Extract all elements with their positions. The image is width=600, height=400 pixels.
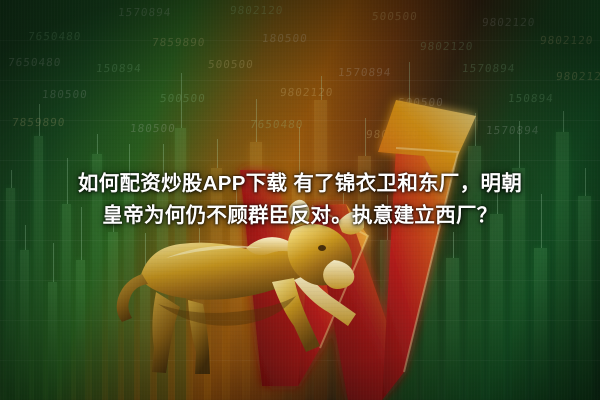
headline-text: 如何配资炒股APP下载 有了锦衣卫和东厂，明朝 皇帝为何仍不顾群臣反对。执意建立… (0, 168, 600, 233)
headline-line-1: 如何配资炒股APP下载 有了锦衣卫和东厂，明朝 (14, 168, 586, 200)
promo-banner-image: 1570894980212050050098021207650480785989… (0, 0, 600, 400)
headline-line-2: 皇帝为何仍不顾群臣反对。执意建立西厂？ (14, 200, 586, 232)
